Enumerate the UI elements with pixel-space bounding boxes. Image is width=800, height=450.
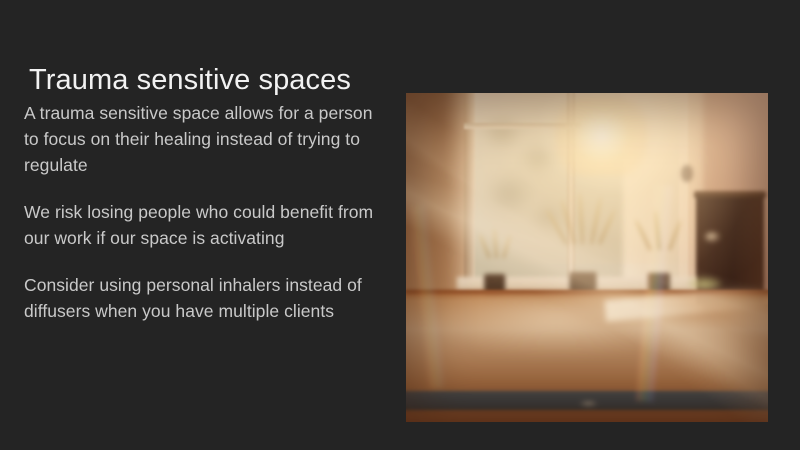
- body-paragraph-3: Consider using personal inhalers instead…: [24, 272, 386, 324]
- wood-floor: [406, 290, 768, 422]
- cabinet-top: [694, 191, 766, 199]
- body-paragraph-1: A trauma sensitive space allows for a pe…: [24, 100, 386, 178]
- body-text-column: A trauma sensitive space allows for a pe…: [24, 100, 386, 324]
- window-mullion-horizontal: [464, 123, 581, 128]
- potted-plant-right: [630, 221, 688, 293]
- mat-shadow: [406, 410, 768, 412]
- wall-hook: [681, 165, 693, 181]
- room-photo-scene: [406, 93, 768, 422]
- room-photo: [406, 93, 768, 422]
- mat-highlight: [579, 401, 598, 406]
- presentation-slide: Trauma sensitive spaces A trauma sensiti…: [0, 0, 800, 450]
- yoga-mat: [406, 391, 768, 410]
- potted-plant-left: [471, 233, 518, 296]
- body-paragraph-2: We risk losing people who could benefit …: [24, 199, 386, 251]
- potted-plant-center: [544, 211, 624, 293]
- cabinet-knob: [705, 232, 720, 242]
